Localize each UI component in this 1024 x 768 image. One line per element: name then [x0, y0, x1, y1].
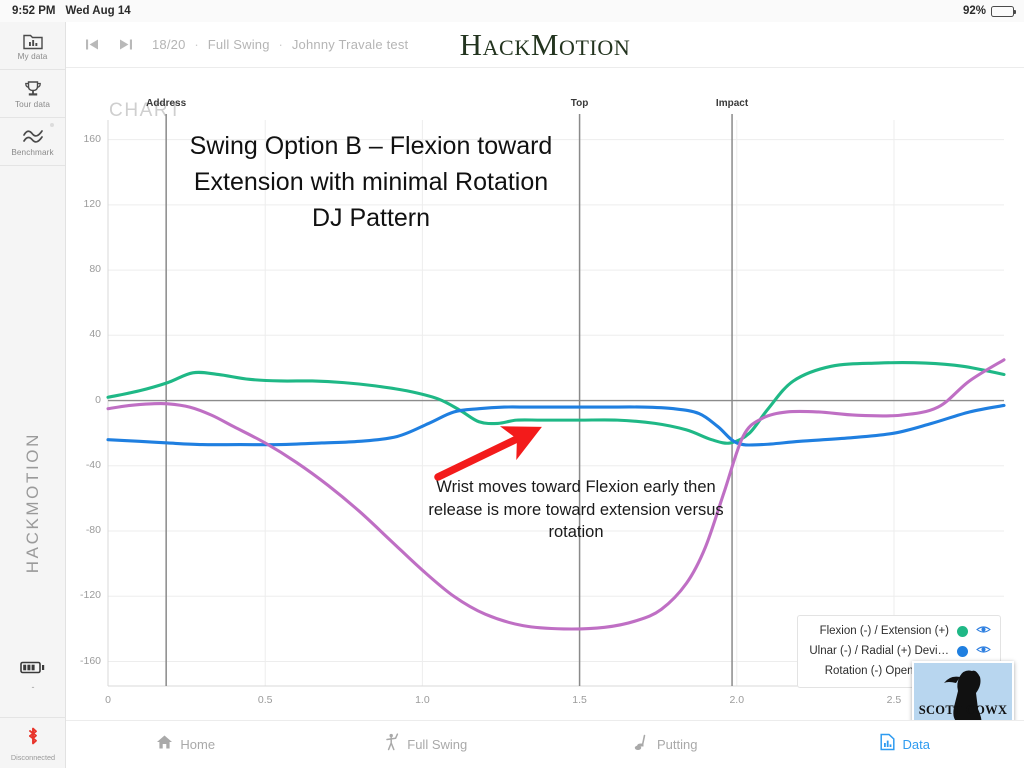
nav-item-putting[interactable]: Putting: [545, 734, 785, 756]
nav-item-label: Home: [180, 737, 215, 752]
putter-icon: [632, 734, 650, 756]
battery-percent: 92%: [963, 5, 986, 17]
chart-title-overlay: Swing Option B – Flexion toward Extensio…: [181, 128, 561, 236]
y-axis-tick-label: -80: [67, 524, 101, 536]
folder-chart-icon: [22, 31, 44, 51]
x-axis-tick-label: 1.0: [405, 694, 439, 706]
legend-color-dot: [957, 626, 968, 637]
x-axis-tick-label: 2.0: [720, 694, 754, 706]
app-root: 9:52 PM Wed Aug 14 92% My data: [0, 0, 1024, 768]
bluetooth-icon: [25, 726, 41, 751]
y-axis-tick-label: 120: [67, 198, 101, 210]
benchmark-wave-icon: [21, 127, 45, 147]
legend-label: Flexion (-) / Extension (+): [809, 625, 949, 637]
sidebar-item-tour-data[interactable]: Tour data: [0, 70, 65, 118]
device-battery-icon: [20, 660, 46, 680]
nav-item-label: Putting: [657, 737, 697, 752]
y-axis-tick-label: -120: [67, 589, 101, 601]
sidebar-item-label: Benchmark: [11, 148, 53, 157]
legend-item[interactable]: Flexion (-) / Extension (+): [809, 621, 991, 641]
x-axis-tick-label: 2.5: [877, 694, 911, 706]
nav-item-home[interactable]: Home: [66, 734, 306, 755]
x-axis-tick-label: 0.5: [248, 694, 282, 706]
golfer-icon: [383, 733, 400, 756]
chart-annotation-overlay: Wrist moves toward Flexion early then re…: [416, 476, 736, 544]
status-time: 9:52 PM: [12, 5, 55, 17]
device-battery-value: -: [32, 684, 35, 690]
eye-icon[interactable]: [976, 642, 991, 660]
skip-next-icon[interactable]: [117, 37, 134, 52]
y-axis-tick-label: 160: [67, 133, 101, 145]
bluetooth-status-label: Disconnected: [11, 753, 55, 762]
x-axis-tick-label: 1.5: [563, 694, 597, 706]
battery-icon: [991, 6, 1014, 17]
bluetooth-status[interactable]: Disconnected: [0, 717, 66, 762]
sidebar-item-my-data[interactable]: My data: [0, 22, 65, 70]
breadcrumb-separator: ·: [273, 37, 288, 52]
legend-item[interactable]: Ulnar (-) / Radial (+) Devi…: [809, 641, 991, 661]
chart-marker-label: Top: [571, 98, 589, 109]
breadcrumb: 18/20 · Full Swing · Johnny Travale test: [152, 37, 408, 52]
home-icon: [156, 734, 173, 755]
session-nav-buttons: [84, 37, 134, 52]
rail-brand-vertical: HACKMOTION: [0, 432, 66, 573]
nav-item-full-swing[interactable]: Full Swing: [306, 733, 546, 756]
legend-color-dot: [957, 646, 968, 657]
y-axis-tick-label: -40: [67, 459, 101, 471]
ios-status-bar: 9:52 PM Wed Aug 14 92%: [0, 0, 1024, 22]
left-rail: My data Tour data Be: [0, 22, 66, 768]
breadcrumb-session: Johnny Travale test: [292, 37, 409, 52]
breadcrumb-mode: Full Swing: [208, 37, 270, 52]
watermark-name: SCOTT COWX: [919, 703, 1008, 718]
y-axis-tick-label: 80: [67, 263, 101, 275]
bottom-nav: Home Full Swing Putting: [66, 720, 1024, 768]
status-right-group: 92%: [963, 5, 1014, 17]
legend-label: Ulnar (-) / Radial (+) Devi…: [809, 645, 949, 657]
benchmark-badge-dot: [50, 123, 54, 127]
trophy-icon: [22, 79, 44, 99]
y-axis-tick-label: 40: [67, 328, 101, 340]
breadcrumb-separator: ·: [189, 37, 204, 52]
rail-brand-text: HACKMOTION: [23, 432, 43, 573]
chart-panel: CHART 16012080400-40-80-120-16000.51.01.…: [66, 68, 1024, 720]
status-date: Wed Aug 14: [65, 5, 130, 17]
chart-marker-label: Address: [146, 98, 186, 109]
sidebar-item-label: Tour data: [15, 100, 50, 109]
app-header: 18/20 · Full Swing · Johnny Travale test…: [66, 22, 1024, 68]
y-axis-tick-label: 0: [67, 394, 101, 406]
breadcrumb-count: 18/20: [152, 37, 186, 52]
nav-item-label: Data: [903, 737, 930, 752]
eye-icon[interactable]: [976, 622, 991, 640]
nav-item-label: Full Swing: [407, 737, 467, 752]
x-axis-tick-label: 0: [91, 694, 125, 706]
device-battery-indicator: -: [0, 660, 66, 690]
data-chart-icon: [879, 733, 896, 756]
app-logo: HackMotion: [395, 29, 695, 60]
sidebar-item-label: My data: [18, 52, 48, 61]
y-axis-tick-label: -160: [67, 655, 101, 667]
chart-marker-label: Impact: [716, 98, 748, 109]
nav-item-data[interactable]: Data: [785, 733, 1024, 756]
sidebar-item-benchmark[interactable]: Benchmark: [0, 118, 65, 166]
skip-previous-icon[interactable]: [84, 37, 101, 52]
